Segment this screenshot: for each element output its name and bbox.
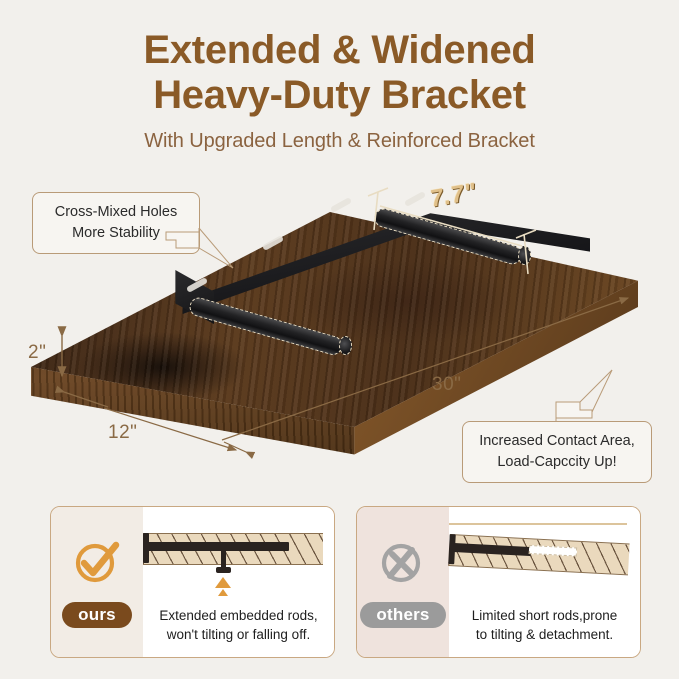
ours-screw-shaft [221,549,226,569]
ours-caption-line1: Extended embedded rods, [149,607,328,626]
rod-length-label: 7.7" [430,178,477,214]
support-rod-back-cap [518,246,531,265]
callout-cross-mixed-holes: Cross-Mixed Holes More Stability [32,192,200,254]
callout-right-line2: Load-Capccity Up! [475,452,639,473]
ours-panel-left: ours [51,507,143,657]
header: Extended & Widened Heavy-Duty Bracket Wi… [0,28,679,153]
ours-badge: ours [62,602,132,628]
bracket-slot [330,197,352,213]
ours-load-arrow [215,577,231,588]
ours-caption-line2: won't tilting or falling off. [149,626,328,645]
others-badge: others [360,602,445,628]
comparison-panel-ours: ours Extended embedded rods, won't tilti… [50,506,335,658]
comparison-section: ours Extended embedded rods, won't tilti… [0,500,679,670]
ours-caption: Extended embedded rods, won't tilting or… [143,607,334,645]
others-caption-line2: to tilting & detachment. [455,626,634,645]
others-caption: Limited short rods,prone to tilting & de… [449,607,640,645]
support-rod-front-cap [339,336,352,355]
x-circle-icon [377,536,429,588]
check-circle-icon [71,536,123,588]
others-wall-line [449,523,627,525]
shelf-depth-label: 12" [108,422,137,444]
callout-increased-contact-area: Increased Contact Area, Load-Capccity Up… [462,421,652,483]
page-subtitle: With Upgraded Length & Reinforced Bracke… [0,130,679,153]
callout-right-line1: Increased Contact Area, [475,431,639,452]
others-panel-right: Limited short rods,prone to tilting & de… [449,507,640,657]
bracket-slot [404,191,426,207]
shelf-length-label: 30" [432,374,461,396]
page-title-line1: Extended & Widened [0,28,679,73]
product-infographic: Extended & Widened Heavy-Duty Bracket Wi… [0,0,679,679]
ours-embedded-rod [147,542,289,551]
ours-load-arrow-small [218,589,228,596]
others-caption-line1: Limited short rods,prone [455,607,634,626]
comparison-panel-others: others Limited short rods,prone to tilti… [356,506,641,658]
callout-left-line1: Cross-Mixed Holes [45,202,187,223]
page-title-line2: Heavy-Duty Bracket [0,73,679,118]
ours-screw-head [216,567,231,573]
ours-panel-right: Extended embedded rods, won't tilting or… [143,507,334,657]
callout-left-line2: More Stability [45,223,187,244]
product-hero-scene: 7.7" 2" 30" 12" Cro [0,170,679,490]
shelf-height-label: 2" [28,342,46,364]
others-panel-left: others [357,507,449,657]
others-wood-section [448,534,629,575]
